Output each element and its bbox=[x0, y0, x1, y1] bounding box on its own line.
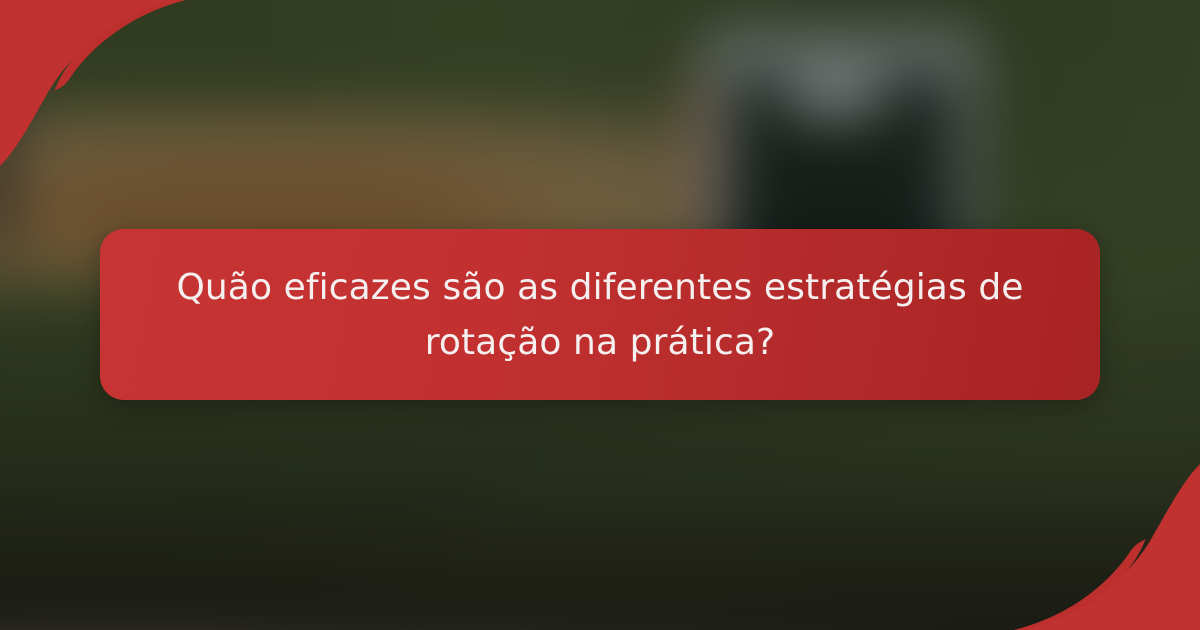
social-card-canvas: Quão eficazes são as diferentes estratég… bbox=[0, 0, 1200, 630]
red-swoosh-bottom-right bbox=[970, 440, 1200, 630]
swoosh-solid-mass bbox=[1018, 464, 1200, 630]
red-swoosh-top-left bbox=[0, 0, 230, 190]
swoosh-solid-mass bbox=[0, 0, 182, 166]
question-card: Quão eficazes são as diferentes estratég… bbox=[100, 229, 1100, 400]
question-text: Quão eficazes são as diferentes estratég… bbox=[156, 260, 1044, 370]
